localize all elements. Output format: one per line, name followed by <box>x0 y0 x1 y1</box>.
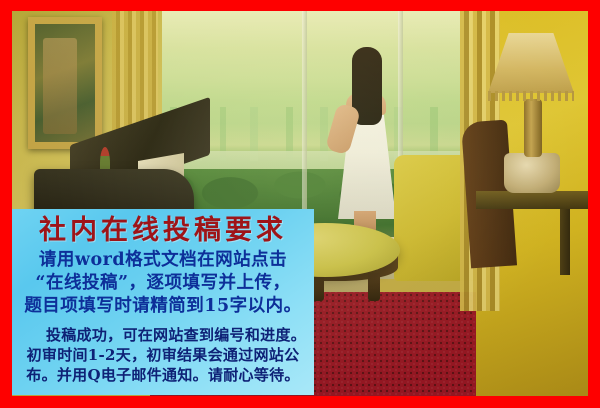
paragraph-one-line: 题目项填写时请精简到15字以内。 <box>18 295 308 318</box>
paragraph-one-line: “在线投稿”，逐项填写并上传， <box>18 272 308 295</box>
announcement-panel: 社内在线投稿要求 请用word格式文档在网站点击 “在线投稿”，逐项填写并上传，… <box>12 209 314 395</box>
ottoman-leg <box>368 273 380 301</box>
lamp-base <box>504 153 560 193</box>
lamp-stem <box>524 99 542 157</box>
console-table-leg <box>560 209 570 275</box>
paragraph-two-line: 投稿成功，可在网站查到编号和进度。 <box>18 325 308 345</box>
poster-image: 社内在线投稿要求 请用word格式文档在网站点击 “在线投稿”，逐项填写并上传，… <box>0 0 600 408</box>
paragraph-two-line: 初审时间1-2天，初审结果会通过网站公 <box>18 345 308 365</box>
paragraph-two-line: 布。并用Q电子邮件通知。请耐心等待。 <box>18 365 308 385</box>
paragraph-one: 请用word格式文档在网站点击 “在线投稿”，逐项填写并上传， 题目项填写时请精… <box>18 249 308 318</box>
woman-figure <box>330 47 404 235</box>
framed-artwork <box>28 17 102 149</box>
lamp-fringe <box>488 91 574 101</box>
paragraph-one-line: 请用word格式文档在网站点击 <box>18 249 308 272</box>
paragraph-two: 投稿成功，可在网站查到编号和进度。 初审时间1-2天，初审结果会通过网站公 布。… <box>18 325 308 385</box>
panel-title: 社内在线投稿要求 <box>18 213 308 249</box>
console-table <box>476 191 588 209</box>
